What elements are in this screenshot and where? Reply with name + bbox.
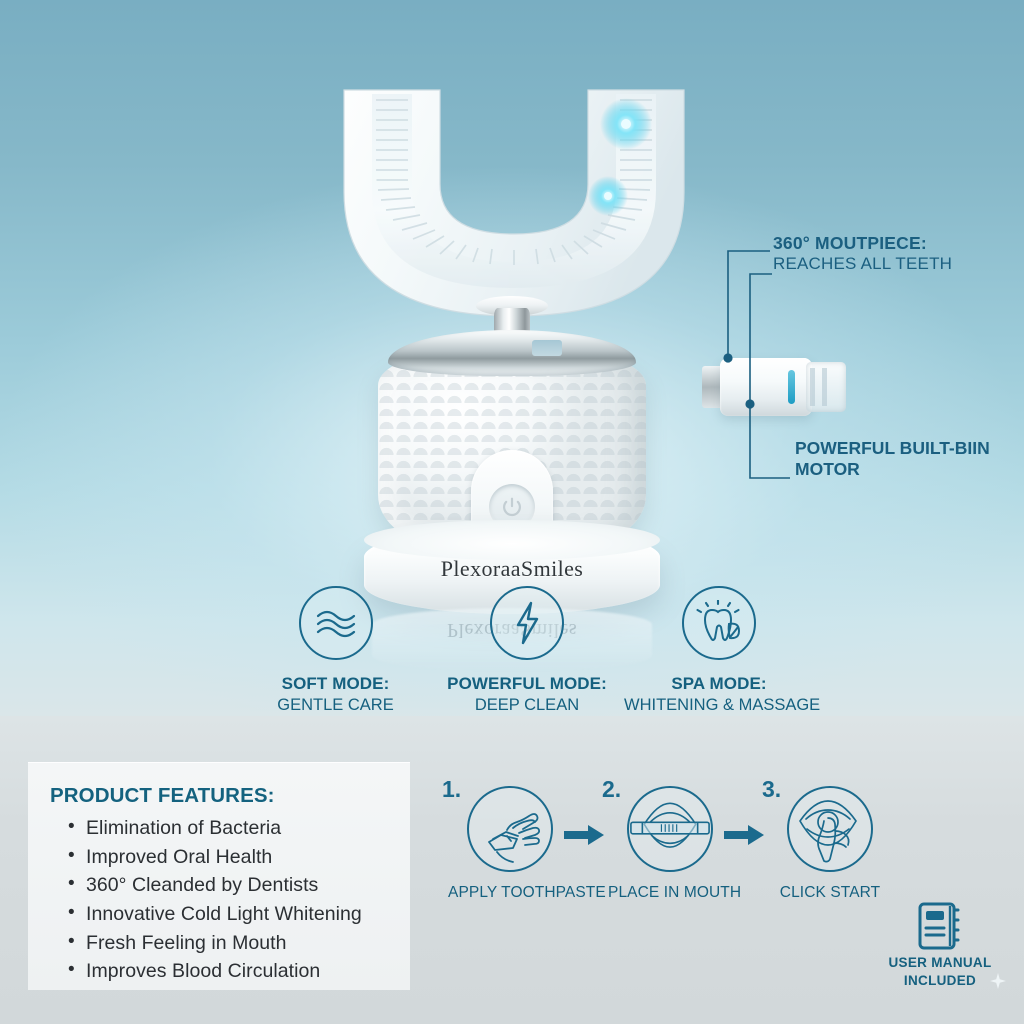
callout-motor: POWERFUL BUILT-BIIN MOTOR [795, 438, 1010, 481]
step-arrow-1-icon [564, 824, 604, 846]
motor-attachment [628, 352, 844, 420]
usage-steps: 1. APPLY TOOTHPASTE [440, 780, 900, 930]
mode-soft-ring [299, 586, 373, 660]
user-manual-badge: USER MANUAL INCLUDED [876, 900, 1004, 988]
mode-powerful-subtitle: DEEP CLEAN [444, 696, 610, 715]
step-2-number: 2. [602, 776, 621, 803]
step-2: 2. PLACE IN MOUTH [608, 780, 732, 902]
user-manual-line-2: INCLUDED [876, 973, 1004, 988]
step-3-ring [787, 786, 873, 872]
step-2-caption: PLACE IN MOUTH [608, 884, 732, 902]
modes-row: SOFT MODE: GENTLE CARE POWERFUL MODE: DE… [258, 586, 814, 726]
mode-soft[interactable]: SOFT MODE: GENTLE CARE [258, 586, 413, 715]
product-features-list: Elimination of Bacteria Improved Oral He… [68, 814, 410, 986]
mode-powerful-title: POWERFUL MODE: [444, 674, 610, 694]
mode-powerful-ring [490, 586, 564, 660]
feature-item: Elimination of Bacteria [68, 814, 410, 843]
mouth-device-icon [629, 792, 711, 866]
feature-item: Improves Blood Circulation [68, 957, 410, 986]
infographic-canvas: PlexoraaSmiles PlexoraaSmiles 360° MOUTP… [0, 0, 1024, 1024]
hand-toothpaste-icon [473, 792, 547, 866]
mode-spa-ring [682, 586, 756, 660]
handle-chrome-ring [388, 330, 636, 376]
step-1-caption: APPLY TOOTHPASTE [448, 884, 572, 902]
user-manual-line-1: USER MANUAL [876, 955, 1004, 970]
motor-housing [720, 358, 812, 416]
sparkle-icon [990, 973, 1006, 989]
mode-soft-title: SOFT MODE: [258, 674, 413, 694]
step-2-ring [627, 786, 713, 872]
step-1-ring [467, 786, 553, 872]
callout-mouthpiece-title: 360° MOUTPIECE: [773, 233, 952, 254]
step-1: 1. APPLY TOOTHPASTE [448, 780, 572, 902]
callout-mouthpiece-subtitle: REACHES ALL TEETH [773, 254, 952, 275]
device-handle [378, 330, 646, 546]
step-3: 3. CLICK START [768, 780, 892, 902]
step-arrow-2-icon [724, 824, 764, 846]
finger-press-icon [790, 791, 870, 867]
charging-base-top [364, 520, 660, 560]
mode-spa-title: SPA MODE: [624, 674, 814, 694]
notebook-icon [916, 900, 964, 952]
motor-shaft [628, 372, 710, 402]
step-3-caption: CLICK START [768, 884, 892, 902]
mouthpiece-head [330, 84, 698, 320]
mode-powerful[interactable]: POWERFUL MODE: DEEP CLEAN [444, 586, 610, 715]
user-manual-line-2-text: INCLUDED [904, 973, 976, 988]
lightning-icon [512, 601, 542, 645]
power-icon [501, 496, 523, 518]
feature-item: 360° Cleanded by Dentists [68, 871, 410, 900]
brand-name: PlexoraaSmiles [364, 556, 660, 582]
feature-item: Innovative Cold Light Whitening [68, 900, 410, 929]
waves-icon [314, 606, 358, 640]
product-features-title: PRODUCT FEATURES: [50, 784, 410, 808]
motor-indicator-strip [788, 370, 795, 404]
motor-connector-tip [806, 362, 846, 412]
feature-item: Fresh Feeling in Mouth [68, 929, 410, 958]
mode-spa-subtitle: WHITENING & MASSAGE [624, 696, 814, 715]
mode-spa[interactable]: SPA MODE: WHITENING & MASSAGE [624, 586, 814, 715]
mode-soft-subtitle: GENTLE CARE [258, 696, 413, 715]
feature-item: Improved Oral Health [68, 843, 410, 872]
tooth-leaf-icon [695, 600, 743, 646]
step-3-number: 3. [762, 776, 781, 803]
step-1-number: 1. [442, 776, 461, 803]
callout-mouthpiece: 360° MOUTPIECE: REACHES ALL TEETH [773, 233, 952, 275]
product-features-panel: PRODUCT FEATURES: Elimination of Bacteri… [28, 762, 410, 990]
